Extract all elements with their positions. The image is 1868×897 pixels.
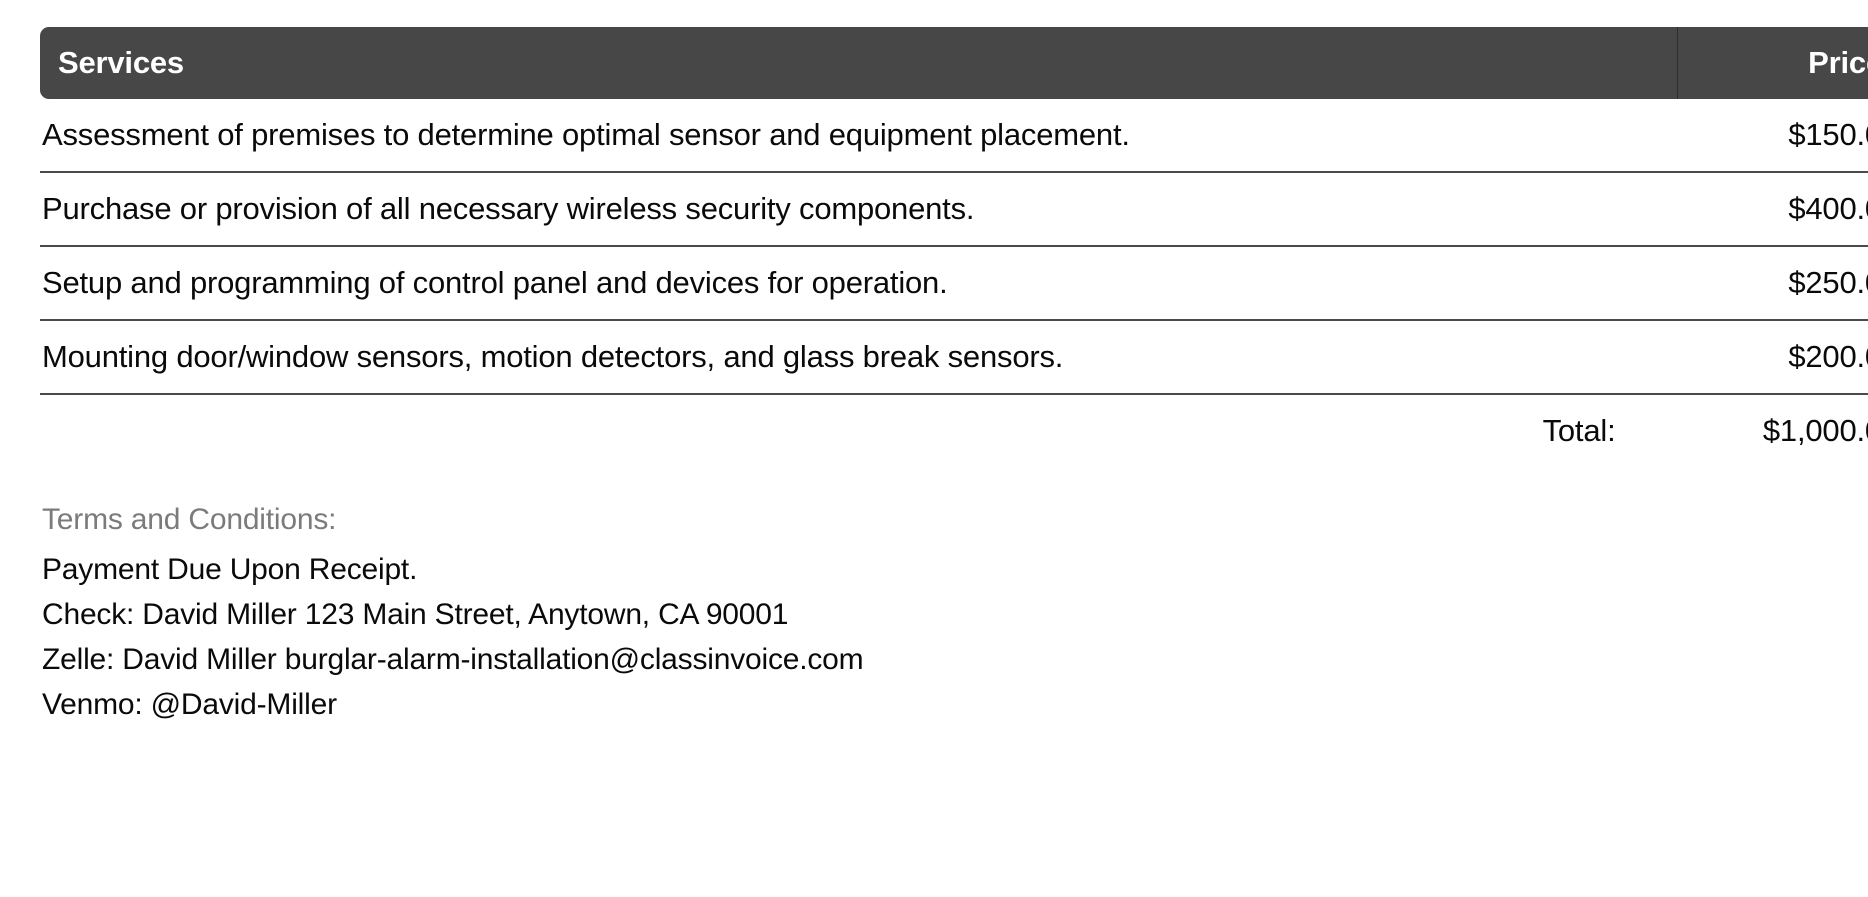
service-price: $400.00	[1678, 172, 1868, 246]
service-description: Mounting door/window sensors, motion det…	[40, 320, 1678, 394]
terms-line-zelle: Zelle: David Miller burglar-alarm-instal…	[42, 637, 1828, 682]
table-total-row: Total: $1,000.00	[40, 394, 1868, 467]
service-description: Purchase or provision of all necessary w…	[40, 172, 1678, 246]
column-header-services: Services	[40, 27, 1678, 99]
terms-line-check: Check: David Miller 123 Main Street, Any…	[42, 592, 1828, 637]
service-description: Setup and programming of control panel a…	[40, 246, 1678, 320]
services-price-table: Services Price Assessment of premises to…	[40, 27, 1868, 467]
table-row: Assessment of premises to determine opti…	[40, 99, 1868, 172]
table-header-row: Services Price	[40, 27, 1868, 99]
service-description: Assessment of premises to determine opti…	[40, 99, 1678, 172]
column-header-price: Price	[1678, 27, 1868, 99]
service-price: $200.00	[1678, 320, 1868, 394]
table-row: Mounting door/window sensors, motion det…	[40, 320, 1868, 394]
total-label: Total:	[40, 394, 1678, 467]
table-body: Assessment of premises to determine opti…	[40, 99, 1868, 467]
table-row: Setup and programming of control panel a…	[40, 246, 1868, 320]
invoice-services-section: Services Price Assessment of premises to…	[0, 27, 1868, 897]
terms-line-venmo: Venmo: @David-Miller	[42, 682, 1828, 727]
table-row: Purchase or provision of all necessary w…	[40, 172, 1868, 246]
terms-and-conditions-section: Terms and Conditions: Payment Due Upon R…	[40, 503, 1828, 727]
table-header: Services Price	[40, 27, 1868, 99]
service-price: $250.00	[1678, 246, 1868, 320]
terms-title: Terms and Conditions:	[42, 503, 1828, 537]
service-price: $150.00	[1678, 99, 1868, 172]
terms-line-payment-due: Payment Due Upon Receipt.	[42, 547, 1828, 592]
total-value: $1,000.00	[1678, 394, 1868, 467]
